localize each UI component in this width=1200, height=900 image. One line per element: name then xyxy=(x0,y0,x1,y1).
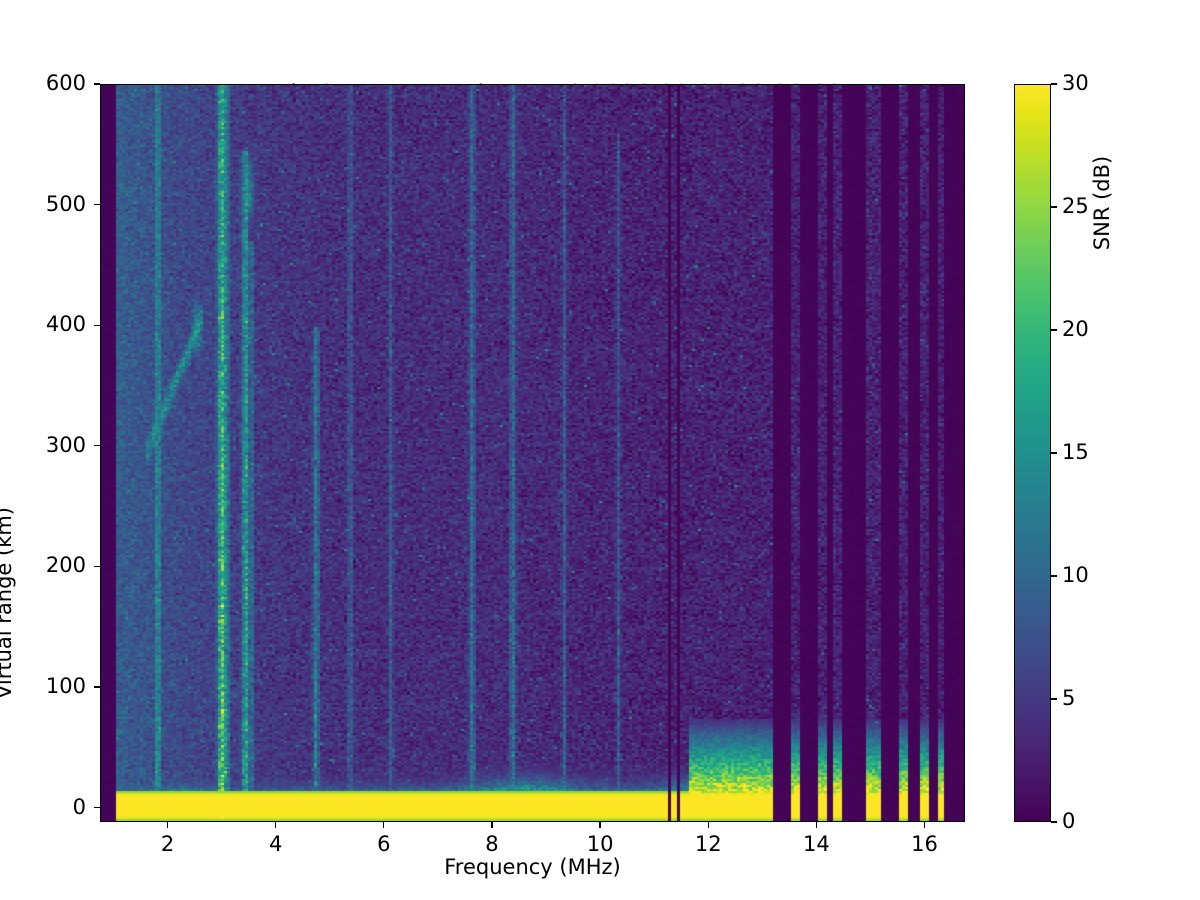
x-tick-label: 16 xyxy=(874,834,974,855)
y-tick-label: 500 xyxy=(0,194,86,215)
x-tick-label: 6 xyxy=(334,834,434,855)
colorbar-tick-mark xyxy=(1051,206,1057,207)
y-tick-label: 0 xyxy=(0,797,86,818)
colorbar-tick-mark xyxy=(1051,575,1057,576)
x-tick-mark xyxy=(816,822,817,828)
ionogram-figure: IRF Uppsala SDR Ionosonde UP158 2026-03-… xyxy=(0,0,1200,900)
colorbar-tick-label: 15 xyxy=(1062,442,1089,463)
y-axis-label: Virtual range (km) xyxy=(0,453,16,753)
colorbar-tick-label: 5 xyxy=(1062,688,1075,709)
x-tick-mark xyxy=(924,822,925,828)
x-tick-mark xyxy=(167,822,168,828)
y-tick-mark xyxy=(94,686,100,687)
colorbar-tick-mark xyxy=(1051,821,1057,822)
x-tick-label: 8 xyxy=(442,834,542,855)
x-tick-label: 10 xyxy=(550,834,650,855)
x-tick-label: 4 xyxy=(226,834,326,855)
ionogram-heatmap xyxy=(101,85,965,822)
colorbar[interactable] xyxy=(1014,84,1051,822)
y-tick-mark xyxy=(94,566,100,567)
colorbar-tick-label: 20 xyxy=(1062,319,1089,340)
x-tick-label: 2 xyxy=(118,834,218,855)
x-tick-mark xyxy=(708,822,709,828)
colorbar-tick-mark xyxy=(1051,698,1057,699)
x-axis-label: Frequency (MHz) xyxy=(100,855,965,879)
x-tick-mark xyxy=(599,822,600,828)
colorbar-tick-label: 25 xyxy=(1062,196,1089,217)
y-tick-mark xyxy=(94,445,100,446)
y-tick-mark xyxy=(94,807,100,808)
colorbar-gradient xyxy=(1015,85,1050,821)
colorbar-tick-mark xyxy=(1051,329,1057,330)
y-tick-mark xyxy=(94,83,100,84)
x-tick-mark xyxy=(275,822,276,828)
colorbar-tick-label: 10 xyxy=(1062,565,1089,586)
x-tick-label: 14 xyxy=(766,834,866,855)
y-tick-mark xyxy=(94,325,100,326)
y-tick-mark xyxy=(94,204,100,205)
y-tick-label: 400 xyxy=(0,314,86,335)
ionogram-axes[interactable] xyxy=(100,84,965,822)
colorbar-tick-mark xyxy=(1051,452,1057,453)
colorbar-tick-mark xyxy=(1051,83,1057,84)
y-tick-label: 600 xyxy=(0,73,86,94)
colorbar-tick-label: 0 xyxy=(1062,811,1075,832)
x-tick-mark xyxy=(491,822,492,828)
colorbar-label: SNR (dB) xyxy=(1090,53,1114,353)
x-tick-label: 12 xyxy=(658,834,758,855)
x-tick-mark xyxy=(383,822,384,828)
colorbar-tick-label: 30 xyxy=(1062,73,1089,94)
